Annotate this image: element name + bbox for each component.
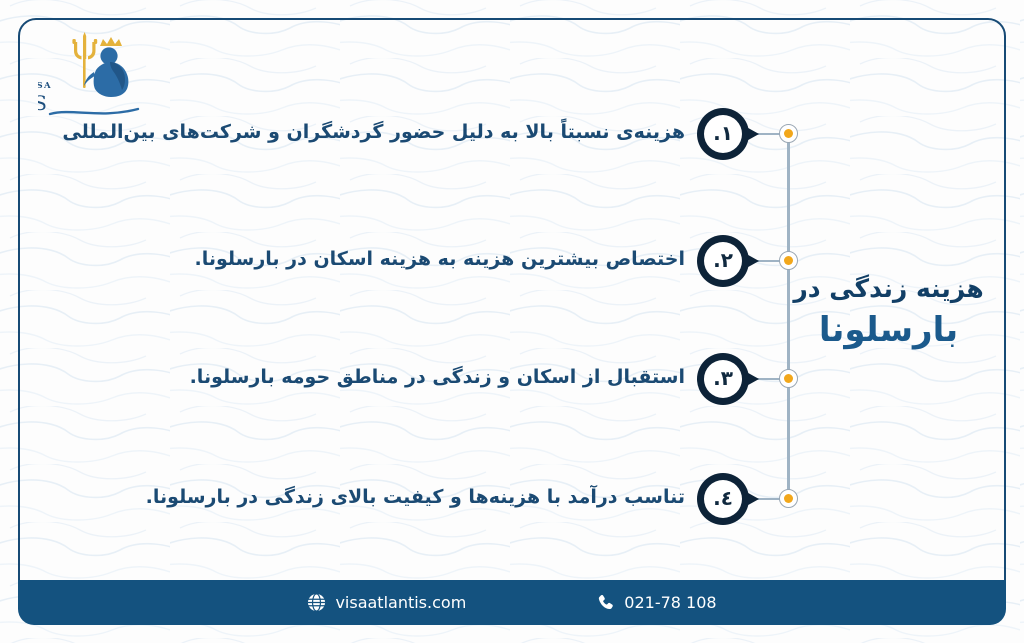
item-badge-2[interactable]: ۲.: [697, 235, 749, 287]
item-badge-3[interactable]: ۳.: [697, 353, 749, 405]
badge-number-1: ۱.: [704, 115, 742, 153]
item-text-3: استقبال از اسکان و زندگی در مناطق حومه ب…: [190, 366, 685, 388]
timeline-dot-4: [779, 489, 798, 508]
item-badge-4[interactable]: ٤.: [697, 473, 749, 525]
item-text-2: اختصاص بیشترین هزینه به هزینه اسکان در ب…: [194, 248, 685, 270]
page-title-line-1: هزینه زندگی در: [781, 275, 996, 302]
footer-phone-label: 021-78 108: [624, 593, 716, 612]
page-title-line-2: بارسلونا: [781, 312, 996, 349]
footer-website-label: visaatlantis.com: [335, 593, 466, 612]
footer-phone[interactable]: 021-78 108: [596, 593, 716, 612]
globe-icon: [307, 593, 326, 612]
item-text-4: تناسب درآمد با هزینه‌ها و کیفیت بالای زن…: [146, 486, 685, 508]
item-text-1: هزینه‌ی نسبتاً بالا به دلیل حضور گردشگرا…: [62, 121, 685, 143]
svg-text:ATLANTIS: ATLANTIS: [38, 91, 48, 115]
svg-text:VISA: VISA: [38, 81, 52, 91]
timeline-dot-3: [779, 369, 798, 388]
infographic-canvas: VISA ATLANTIS هزینه زندگی در بارسلونا ۱.…: [0, 0, 1024, 643]
badge-ring-4: ٤.: [697, 473, 749, 525]
timeline-spine: [787, 133, 790, 498]
timeline-dot-1: [779, 124, 798, 143]
badge-number-2: ۲.: [704, 242, 742, 280]
page-title: هزینه زندگی در بارسلونا: [781, 275, 996, 349]
footer-bar: visaatlantis.com 021-78 108: [18, 580, 1006, 625]
badge-number-3: ۳.: [704, 360, 742, 398]
footer-website[interactable]: visaatlantis.com: [307, 593, 466, 612]
visa-atlantis-logo: VISA ATLANTIS: [38, 26, 150, 118]
badge-ring-1: ۱.: [697, 108, 749, 160]
phone-icon: [596, 593, 615, 612]
badge-ring-2: ۲.: [697, 235, 749, 287]
badge-number-4: ٤.: [704, 480, 742, 518]
item-badge-1[interactable]: ۱.: [697, 108, 749, 160]
badge-ring-3: ۳.: [697, 353, 749, 405]
timeline-dot-2: [779, 251, 798, 270]
